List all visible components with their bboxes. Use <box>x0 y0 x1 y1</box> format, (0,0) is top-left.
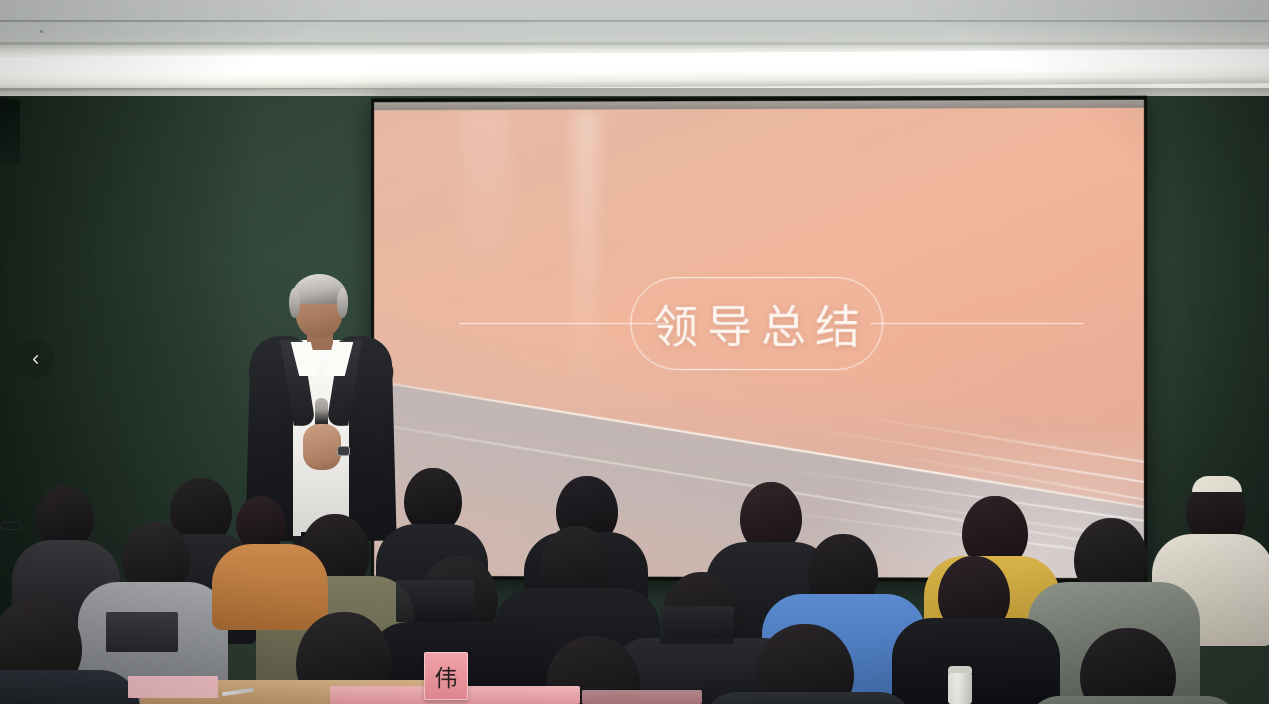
chevron-left-icon <box>28 352 43 367</box>
slide-title-group: 领导总结 <box>374 277 1144 371</box>
attendee-body-tan <box>212 544 328 630</box>
attendee-head <box>236 496 286 550</box>
thermos-cap <box>948 666 972 673</box>
glasses-icon <box>0 522 22 530</box>
desk-pink-right <box>582 690 702 704</box>
ceiling-seam <box>0 20 1269 22</box>
nameplate-text: 伟 <box>435 659 458 693</box>
slide-title-pill: 领导总结 <box>630 277 883 370</box>
laptop <box>660 606 734 644</box>
slide-title-text: 领导总结 <box>644 291 869 356</box>
attendee-body-dark <box>0 670 140 704</box>
attendee-headband <box>1192 476 1242 492</box>
attendee-body-dark <box>702 692 914 704</box>
thermos <box>948 670 972 704</box>
pink-note-paper <box>128 676 218 698</box>
presenter-hair-side <box>337 288 348 318</box>
ceiling-fixture-dot <box>40 30 43 33</box>
laptop <box>106 612 178 652</box>
wall-vent <box>0 96 20 164</box>
presentation-photo: 领导总结 <box>0 0 1269 704</box>
slide-title-line-right <box>870 323 1083 324</box>
ceiling-seam <box>0 42 1269 45</box>
attendee-head <box>404 468 462 532</box>
attendee-body-dark <box>892 618 1060 704</box>
audience <box>0 430 1269 704</box>
presenter-hair-side <box>289 288 300 318</box>
attendee-body-gray <box>1026 696 1240 704</box>
attendee-head <box>36 486 94 548</box>
prev-button[interactable] <box>16 340 55 379</box>
laptop <box>396 580 474 622</box>
nameplate: 伟 <box>424 652 468 700</box>
